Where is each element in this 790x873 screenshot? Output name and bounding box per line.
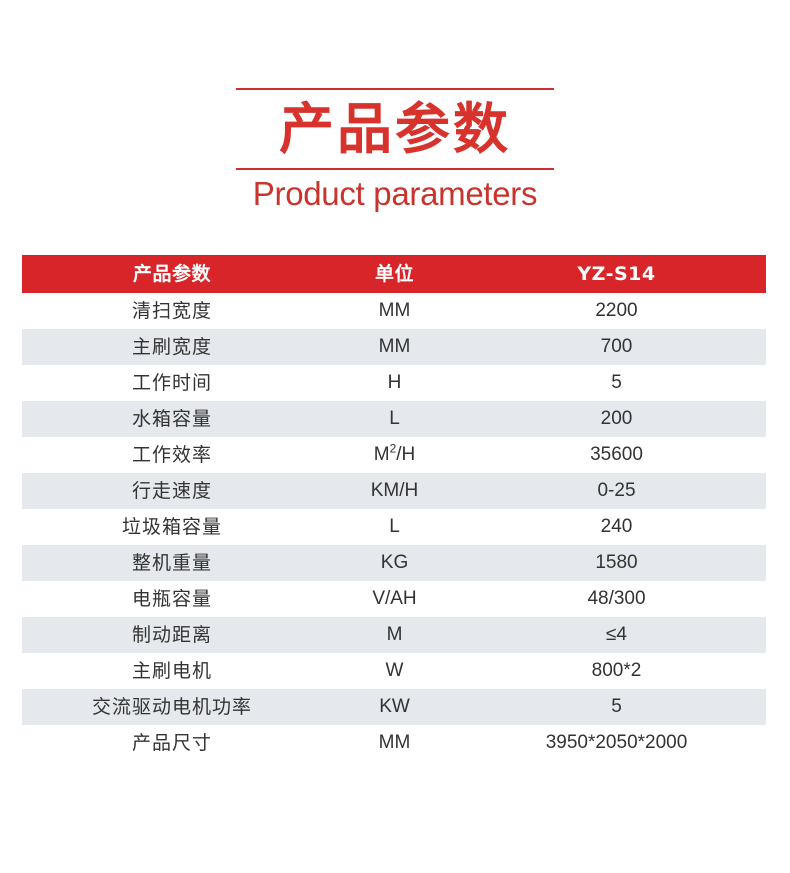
table-row: 水箱容量L200 <box>22 401 766 437</box>
page-title-en: Product parameters <box>0 170 790 215</box>
cell-param: 主刷宽度 <box>22 329 322 365</box>
page-title-cn: 产品参数 <box>0 92 790 166</box>
table-head: 产品参数 单位 YZ-S14 <box>22 255 766 293</box>
cell-unit: V/AH <box>322 581 467 617</box>
cell-value: 35600 <box>467 437 766 473</box>
table-row: 产品尺寸MM3950*2050*2000 <box>22 725 766 761</box>
table-row: 交流驱动电机功率KW5 <box>22 689 766 725</box>
cell-unit: M2/H <box>322 437 467 473</box>
column-header-param: 产品参数 <box>22 255 322 293</box>
cell-param: 工作效率 <box>22 437 322 473</box>
unit-superscript: 2 <box>390 442 397 456</box>
cell-unit: H <box>322 365 467 401</box>
title-block: 产品参数 Product parameters <box>0 88 790 215</box>
cell-value: 5 <box>467 689 766 725</box>
cell-value: 200 <box>467 401 766 437</box>
cell-value: 0-25 <box>467 473 766 509</box>
specifications-table: 产品参数 单位 YZ-S14 清扫宽度MM2200主刷宽度MM700工作时间H5… <box>22 255 766 761</box>
cell-unit: L <box>322 401 467 437</box>
cell-value: 240 <box>467 509 766 545</box>
cell-param: 电瓶容量 <box>22 581 322 617</box>
table-row: 工作时间H5 <box>22 365 766 401</box>
cell-param: 清扫宽度 <box>22 293 322 329</box>
table-row: 主刷宽度MM700 <box>22 329 766 365</box>
cell-value: 1580 <box>467 545 766 581</box>
cell-param: 整机重量 <box>22 545 322 581</box>
cell-unit: MM <box>322 293 467 329</box>
table-row: 主刷电机W800*2 <box>22 653 766 689</box>
table-row: 电瓶容量V/AH48/300 <box>22 581 766 617</box>
table-body: 清扫宽度MM2200主刷宽度MM700工作时间H5水箱容量L200工作效率M2/… <box>22 293 766 761</box>
cell-param: 工作时间 <box>22 365 322 401</box>
cell-param: 垃圾箱容量 <box>22 509 322 545</box>
product-parameters-page: 产品参数 Product parameters 产品参数 单位 YZ-S14 清… <box>0 0 790 873</box>
cell-unit: MM <box>322 329 467 365</box>
cell-value: 3950*2050*2000 <box>467 725 766 761</box>
cell-value: 5 <box>467 365 766 401</box>
table-row: 清扫宽度MM2200 <box>22 293 766 329</box>
title-rule-top <box>236 88 554 90</box>
cell-param: 交流驱动电机功率 <box>22 689 322 725</box>
cell-param: 行走速度 <box>22 473 322 509</box>
cell-value: 2200 <box>467 293 766 329</box>
table-row: 垃圾箱容量L240 <box>22 509 766 545</box>
cell-param: 水箱容量 <box>22 401 322 437</box>
table-row: 整机重量KG1580 <box>22 545 766 581</box>
cell-unit: L <box>322 509 467 545</box>
column-header-unit: 单位 <box>322 255 467 293</box>
cell-unit: MM <box>322 725 467 761</box>
cell-unit: KM/H <box>322 473 467 509</box>
cell-unit: KG <box>322 545 467 581</box>
table-row: 制动距离M≤4 <box>22 617 766 653</box>
cell-value: 800*2 <box>467 653 766 689</box>
cell-param: 主刷电机 <box>22 653 322 689</box>
table-row: 工作效率M2/H35600 <box>22 437 766 473</box>
cell-unit: M <box>322 617 467 653</box>
cell-unit: KW <box>322 689 467 725</box>
cell-value: ≤4 <box>467 617 766 653</box>
table-header-row: 产品参数 单位 YZ-S14 <box>22 255 766 293</box>
cell-param: 产品尺寸 <box>22 725 322 761</box>
cell-value: 48/300 <box>467 581 766 617</box>
table-row: 行走速度KM/H0-25 <box>22 473 766 509</box>
cell-unit: W <box>322 653 467 689</box>
cell-value: 700 <box>467 329 766 365</box>
cell-param: 制动距离 <box>22 617 322 653</box>
column-header-model: YZ-S14 <box>467 255 766 293</box>
